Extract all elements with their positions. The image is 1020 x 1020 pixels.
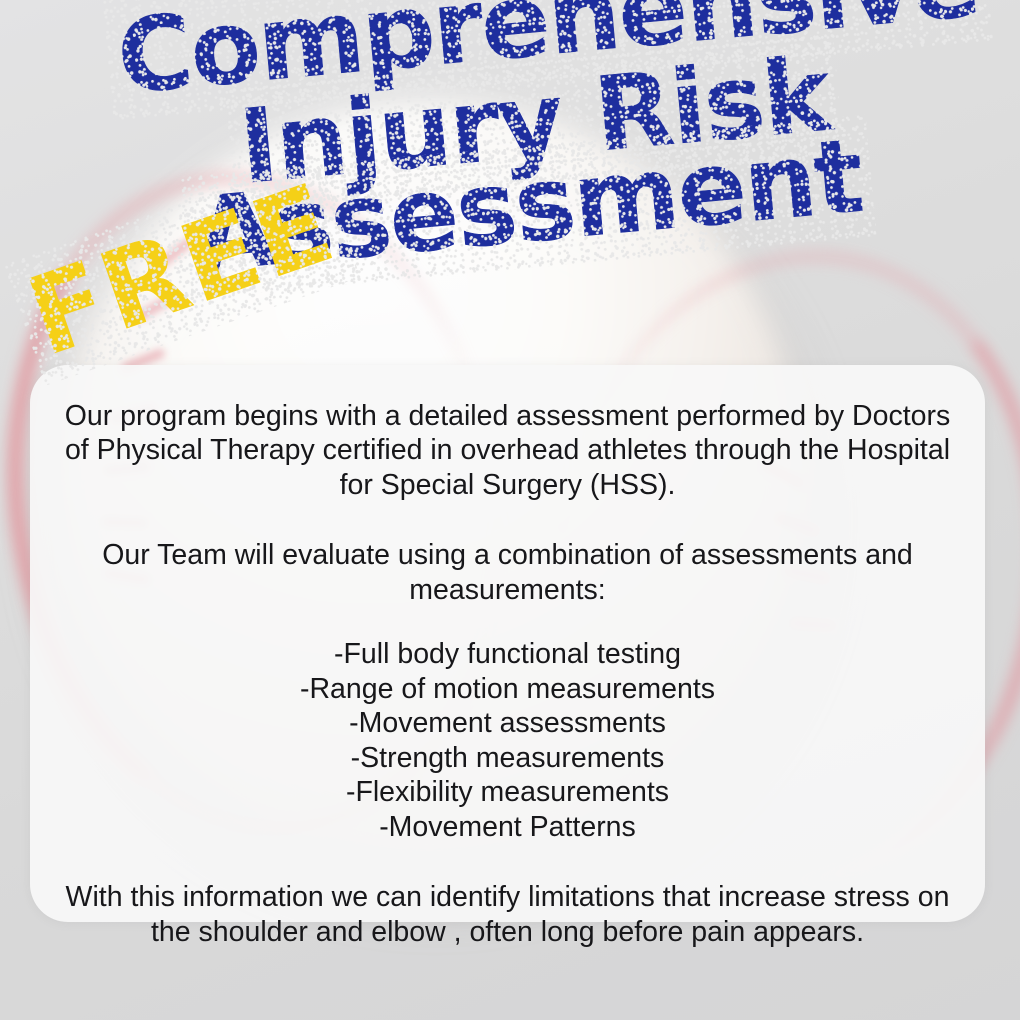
spacer	[64, 607, 951, 637]
list-item: -Flexibility measurements	[64, 775, 951, 809]
list-item: -Full body functional testing	[64, 637, 951, 671]
assessment-list: -Full body functional testing -Range of …	[64, 637, 951, 844]
evaluation-paragraph: Our Team will evaluate using a combinati…	[64, 538, 951, 607]
content-card-body: Our program begins with a detailed asses…	[64, 395, 951, 949]
list-item: -Range of motion measurements	[64, 672, 951, 706]
poster-canvas: Comprehensive Injury Risk Assessment FRE…	[0, 0, 1020, 1020]
intro-paragraph: Our program begins with a detailed asses…	[64, 399, 951, 502]
closing-paragraph: With this information we can identify li…	[64, 880, 951, 949]
list-item: -Movement assessments	[64, 706, 951, 740]
content-card: Our program begins with a detailed asses…	[30, 365, 985, 922]
list-item: -Movement Patterns	[64, 810, 951, 844]
spacer	[64, 502, 951, 538]
list-item: -Strength measurements	[64, 741, 951, 775]
spacer	[64, 844, 951, 880]
